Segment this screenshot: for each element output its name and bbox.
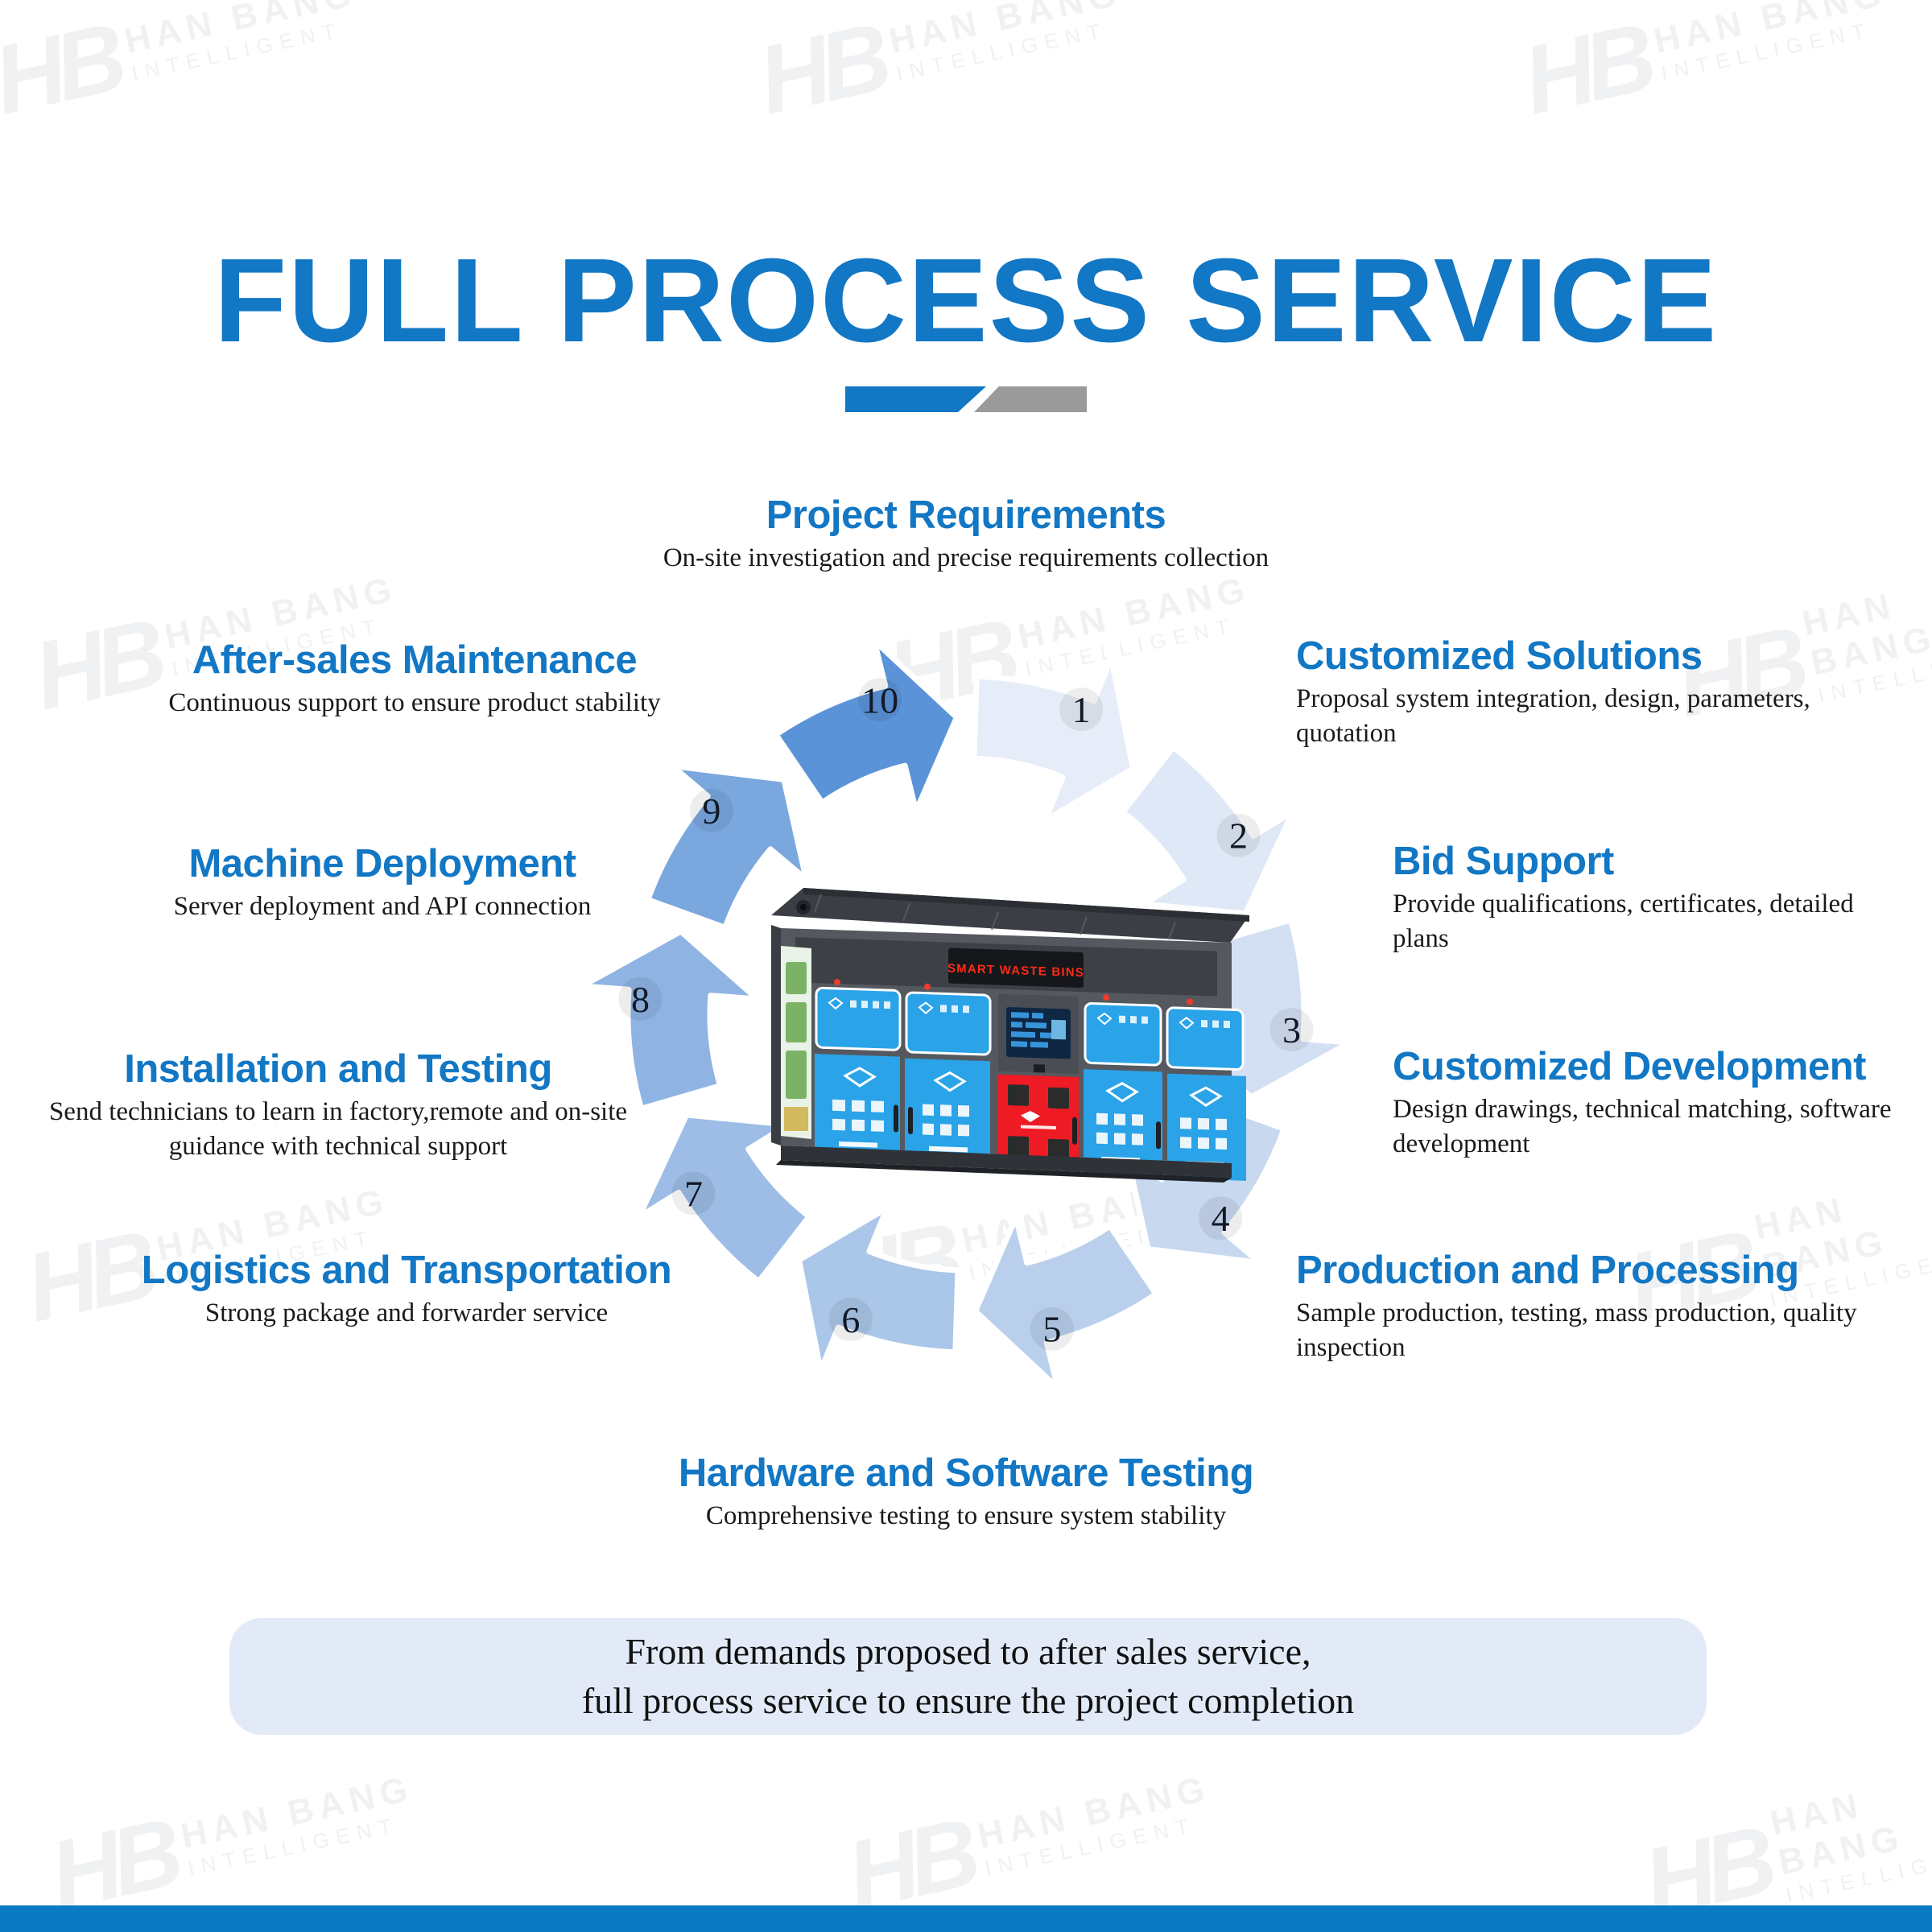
watermark-line2: INTELLIGENT	[1784, 1839, 1932, 1908]
accent-grey-shape	[974, 386, 1087, 412]
step-description: Design drawings, technical matching, sof…	[1393, 1092, 1924, 1162]
step-item-6: Hardware and Software Testing Comprehens…	[563, 1453, 1368, 1534]
step-title: Customized Development	[1393, 1046, 1924, 1088]
watermark: HB HAN BANG INTELLIGENT	[43, 1757, 424, 1919]
step-description: Provide qualifications, certificates, de…	[1393, 887, 1916, 956]
step-item-5: Production and Processing Sample product…	[1296, 1250, 1916, 1365]
step-item-2: Customized Solutions Proposal system int…	[1296, 636, 1908, 751]
watermark-line2: INTELLIGENT	[983, 1807, 1219, 1880]
step-number-badge-10: 10	[858, 678, 902, 721]
step-description: Proposal system integration, design, par…	[1296, 682, 1908, 751]
watermark-logo-icon: HB	[752, 14, 890, 125]
step-description: On-site investigation and precise requir…	[563, 541, 1368, 576]
infographic-canvas: HB HAN BANG INTELLIGENT HB HAN BANG INTE…	[0, 0, 1932, 1932]
process-arrow-6	[799, 1208, 958, 1371]
step-number-label: 7	[684, 1173, 703, 1214]
summary-line-1: From demands proposed to after sales ser…	[625, 1631, 1311, 1672]
header: FULL PROCESS SERVICE	[0, 242, 1932, 412]
step-item-1: Project Requirements On-site investigati…	[563, 495, 1368, 576]
watermark-logo-icon: HB	[840, 1809, 979, 1920]
step-number-badge-9: 9	[690, 789, 733, 832]
step-number-badge-7: 7	[672, 1171, 716, 1215]
bottom-accent-bar	[0, 1905, 1932, 1932]
step-item-10: After-sales Maintenance Continuous suppo…	[121, 640, 708, 720]
accent-blue-shape	[845, 386, 986, 412]
step-description: Server deployment and API connection	[89, 890, 676, 924]
step-title: Hardware and Software Testing	[563, 1453, 1368, 1494]
step-number-label: 3	[1282, 1009, 1301, 1051]
watermark-line2: INTELLIGENT	[894, 12, 1130, 85]
step-description: Comprehensive testing to ensure system s…	[563, 1499, 1368, 1534]
step-number-badge-6: 6	[829, 1298, 873, 1341]
process-arrow-1	[974, 658, 1133, 820]
step-number-badge-2: 2	[1217, 814, 1261, 857]
step-title: Customized Solutions	[1296, 636, 1908, 677]
page-title: FULL PROCESS SERVICE	[0, 242, 1932, 361]
step-title: Bid Support	[1393, 841, 1916, 882]
watermark-line1: HAN BANG	[974, 1769, 1213, 1857]
step-number-label: 2	[1229, 815, 1248, 857]
step-description: Send technicians to learn in factory,rem…	[16, 1095, 660, 1164]
watermark: HB HAN BANG INTELLIGENT	[1517, 0, 1897, 125]
product-image-smart-waste-bins: SMART WASTE BINS	[765, 865, 1256, 1187]
watermark: HB HAN BANG INTELLIGENT	[0, 0, 368, 125]
step-item-9: Machine Deployment Server deployment and…	[89, 844, 676, 924]
step-number-badge-3: 3	[1270, 1008, 1314, 1051]
watermark-line1: HAN BANG	[885, 0, 1125, 61]
step-title: After-sales Maintenance	[121, 640, 708, 681]
process-arrow-5	[976, 1217, 1156, 1388]
watermark-line2: INTELLIGENT	[186, 1807, 422, 1880]
watermark-line1: HAN BANG	[177, 1769, 416, 1857]
step-title: Machine Deployment	[89, 844, 676, 885]
step-number-label: 6	[841, 1299, 860, 1340]
watermark-logo-icon: HB	[1517, 14, 1655, 125]
title-accent-bar	[845, 386, 1087, 412]
step-number-label: 8	[631, 979, 650, 1020]
step-item-7: Logistics and Transportation Strong pack…	[89, 1250, 724, 1331]
watermark-line1: HAN BANG	[121, 0, 360, 61]
watermark: HB HAN BANG INTELLIGENT	[840, 1757, 1221, 1919]
process-arrow-10	[776, 641, 956, 811]
step-title: Project Requirements	[563, 495, 1368, 536]
step-number-label: 9	[702, 791, 720, 832]
step-number-badge-1: 1	[1059, 687, 1103, 731]
step-number-label: 4	[1212, 1198, 1230, 1239]
watermark: HB HAN BANG INTELLIGENT	[752, 0, 1133, 125]
watermark-line1: HAN BANG	[1650, 0, 1889, 61]
watermark-logo-icon: HB	[43, 1809, 182, 1920]
step-number-badge-5: 5	[1030, 1307, 1074, 1351]
step-description: Continuous support to ensure product sta…	[121, 686, 708, 720]
step-number-label: 10	[861, 679, 898, 720]
step-item-4: Customized Development Design drawings, …	[1393, 1046, 1924, 1162]
watermark-line2: INTELLIGENT	[1659, 12, 1895, 85]
step-title: Production and Processing	[1296, 1250, 1916, 1291]
step-number-badge-8: 8	[618, 977, 662, 1021]
step-item-8: Installation and Testing Send technician…	[16, 1049, 660, 1164]
step-item-3: Bid Support Provide qualifications, cert…	[1393, 841, 1916, 956]
watermark-line1: HAN BANG	[1767, 1760, 1932, 1883]
summary-banner: From demands proposed to after sales ser…	[229, 1618, 1707, 1735]
step-title: Logistics and Transportation	[89, 1250, 724, 1291]
step-description: Sample production, testing, mass product…	[1296, 1296, 1916, 1365]
step-title: Installation and Testing	[16, 1049, 660, 1090]
step-number-label: 5	[1042, 1309, 1061, 1350]
step-number-badge-4: 4	[1199, 1196, 1242, 1240]
step-number-label: 1	[1072, 689, 1091, 730]
step-description: Strong package and forwarder service	[89, 1296, 724, 1331]
watermark-line2: INTELLIGENT	[130, 12, 365, 85]
summary-line-2: full process service to ensure the proje…	[582, 1680, 1354, 1721]
watermark-logo-icon: HB	[0, 14, 126, 125]
